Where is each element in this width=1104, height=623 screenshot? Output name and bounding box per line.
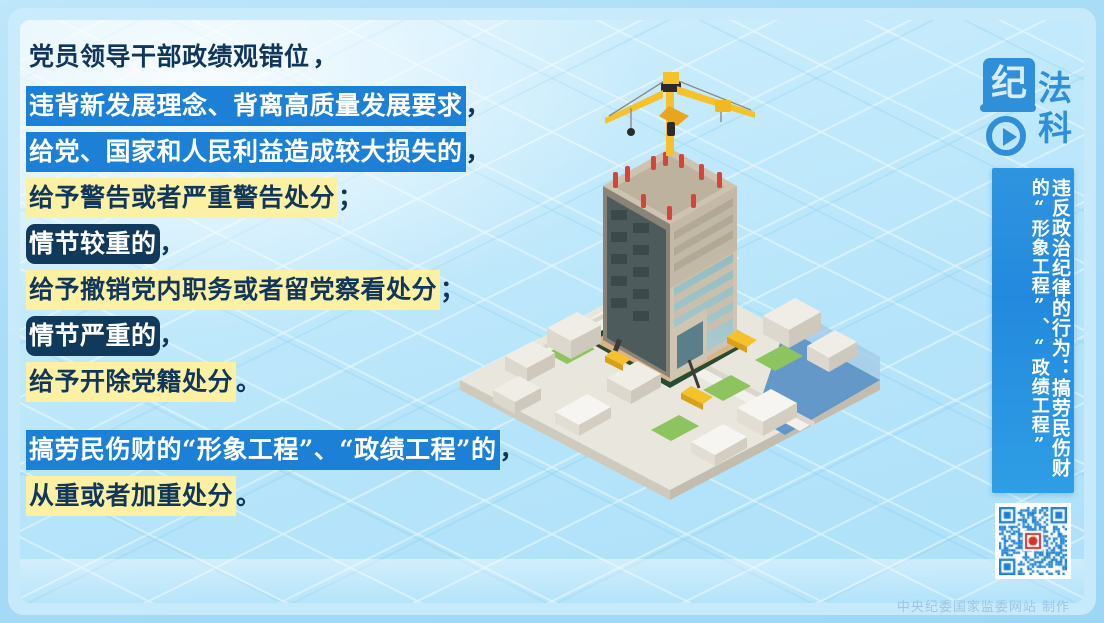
text-line-7-tail: ， — [160, 321, 186, 350]
text-line-3: 给党、国家和人民利益造成较大损失的， — [26, 139, 646, 164]
vertical-banner-column-2: 的“形象工程”、“政绩工程” — [1029, 178, 1049, 483]
text-line-2-content: 违背新发展理念、背离高质量发展要求 — [26, 86, 466, 126]
text-line-9-content: 搞劳民伤财的“形象工程”、“政绩工程”的 — [26, 430, 500, 470]
text-line-8: 给予开除党籍处分。 — [26, 369, 646, 394]
text-line-4: 给予警告或者严重警告处分； — [26, 185, 646, 210]
text-line-10: 从重或者加重处分。 — [26, 483, 646, 508]
text-line-2-tail: ， — [466, 91, 492, 120]
text-line-10-tail: 。 — [236, 481, 262, 510]
text-line-7-content: 情节严重的 — [26, 316, 160, 356]
text-line-10-content: 从重或者加重处分 — [26, 476, 236, 516]
play-triangle-icon — [1003, 128, 1017, 146]
logo-char-fa: 法 — [1038, 72, 1072, 106]
logo-char-ke: 科 — [1038, 112, 1072, 146]
text-line-6-content: 给予撤销党内职务或者留党察看处分 — [26, 270, 440, 310]
text-line-4-tail: ； — [338, 183, 364, 212]
text-line-1-content: 党员领导干部政绩观错位 — [26, 37, 313, 77]
text-line-5-content: 情节较重的 — [26, 224, 160, 264]
text-line-4-content: 给予警告或者严重警告处分 — [26, 178, 338, 218]
text-line-6: 给予撤销党内职务或者留党察看处分； — [26, 277, 646, 302]
vertical-banner-column-1: 违反政治纪律的行为：搞劳民伤财 — [1049, 178, 1070, 483]
poster-canvas: 党员领导干部政绩观错位， 违背新发展理念、背离高质量发展要求， 给党、国家和人民… — [0, 0, 1104, 623]
text-line-8-content: 给予开除党籍处分 — [26, 362, 236, 402]
text-line-3-tail: ， — [466, 137, 492, 166]
logo-bai-bar — [980, 104, 1036, 112]
text-line-3-content: 给党、国家和人民利益造成较大损失的 — [26, 132, 466, 172]
text-line-6-tail: ； — [440, 275, 466, 304]
text-line-1-tail: ， — [313, 42, 339, 71]
logo-char-bai-play-icon — [980, 102, 1036, 158]
body-text-block: 党员领导干部政绩观错位， 违背新发展理念、背离高质量发展要求， 给党、国家和人民… — [26, 44, 646, 529]
qr-code[interactable] — [995, 503, 1071, 579]
text-line-2: 违背新发展理念、背离高质量发展要求， — [26, 93, 646, 118]
brand-logo[interactable]: 纪 法 科 — [980, 50, 1076, 160]
credit-text: 中央纪委国家监委网站 制作 — [897, 596, 1070, 615]
text-line-9: 搞劳民伤财的“形象工程”、“政绩工程”的， — [26, 437, 646, 462]
text-line-9-tail: ， — [500, 435, 526, 464]
text-line-1: 党员领导干部政绩观错位， — [26, 44, 646, 69]
text-line-8-tail: 。 — [236, 367, 262, 396]
text-line-5: 情节较重的， — [26, 231, 646, 256]
text-line-5-tail: ， — [160, 229, 186, 258]
vertical-title-banner: 违反政治纪律的行为：搞劳民伤财 的“形象工程”、“政绩工程” — [992, 168, 1074, 493]
text-line-7: 情节严重的， — [26, 323, 646, 348]
